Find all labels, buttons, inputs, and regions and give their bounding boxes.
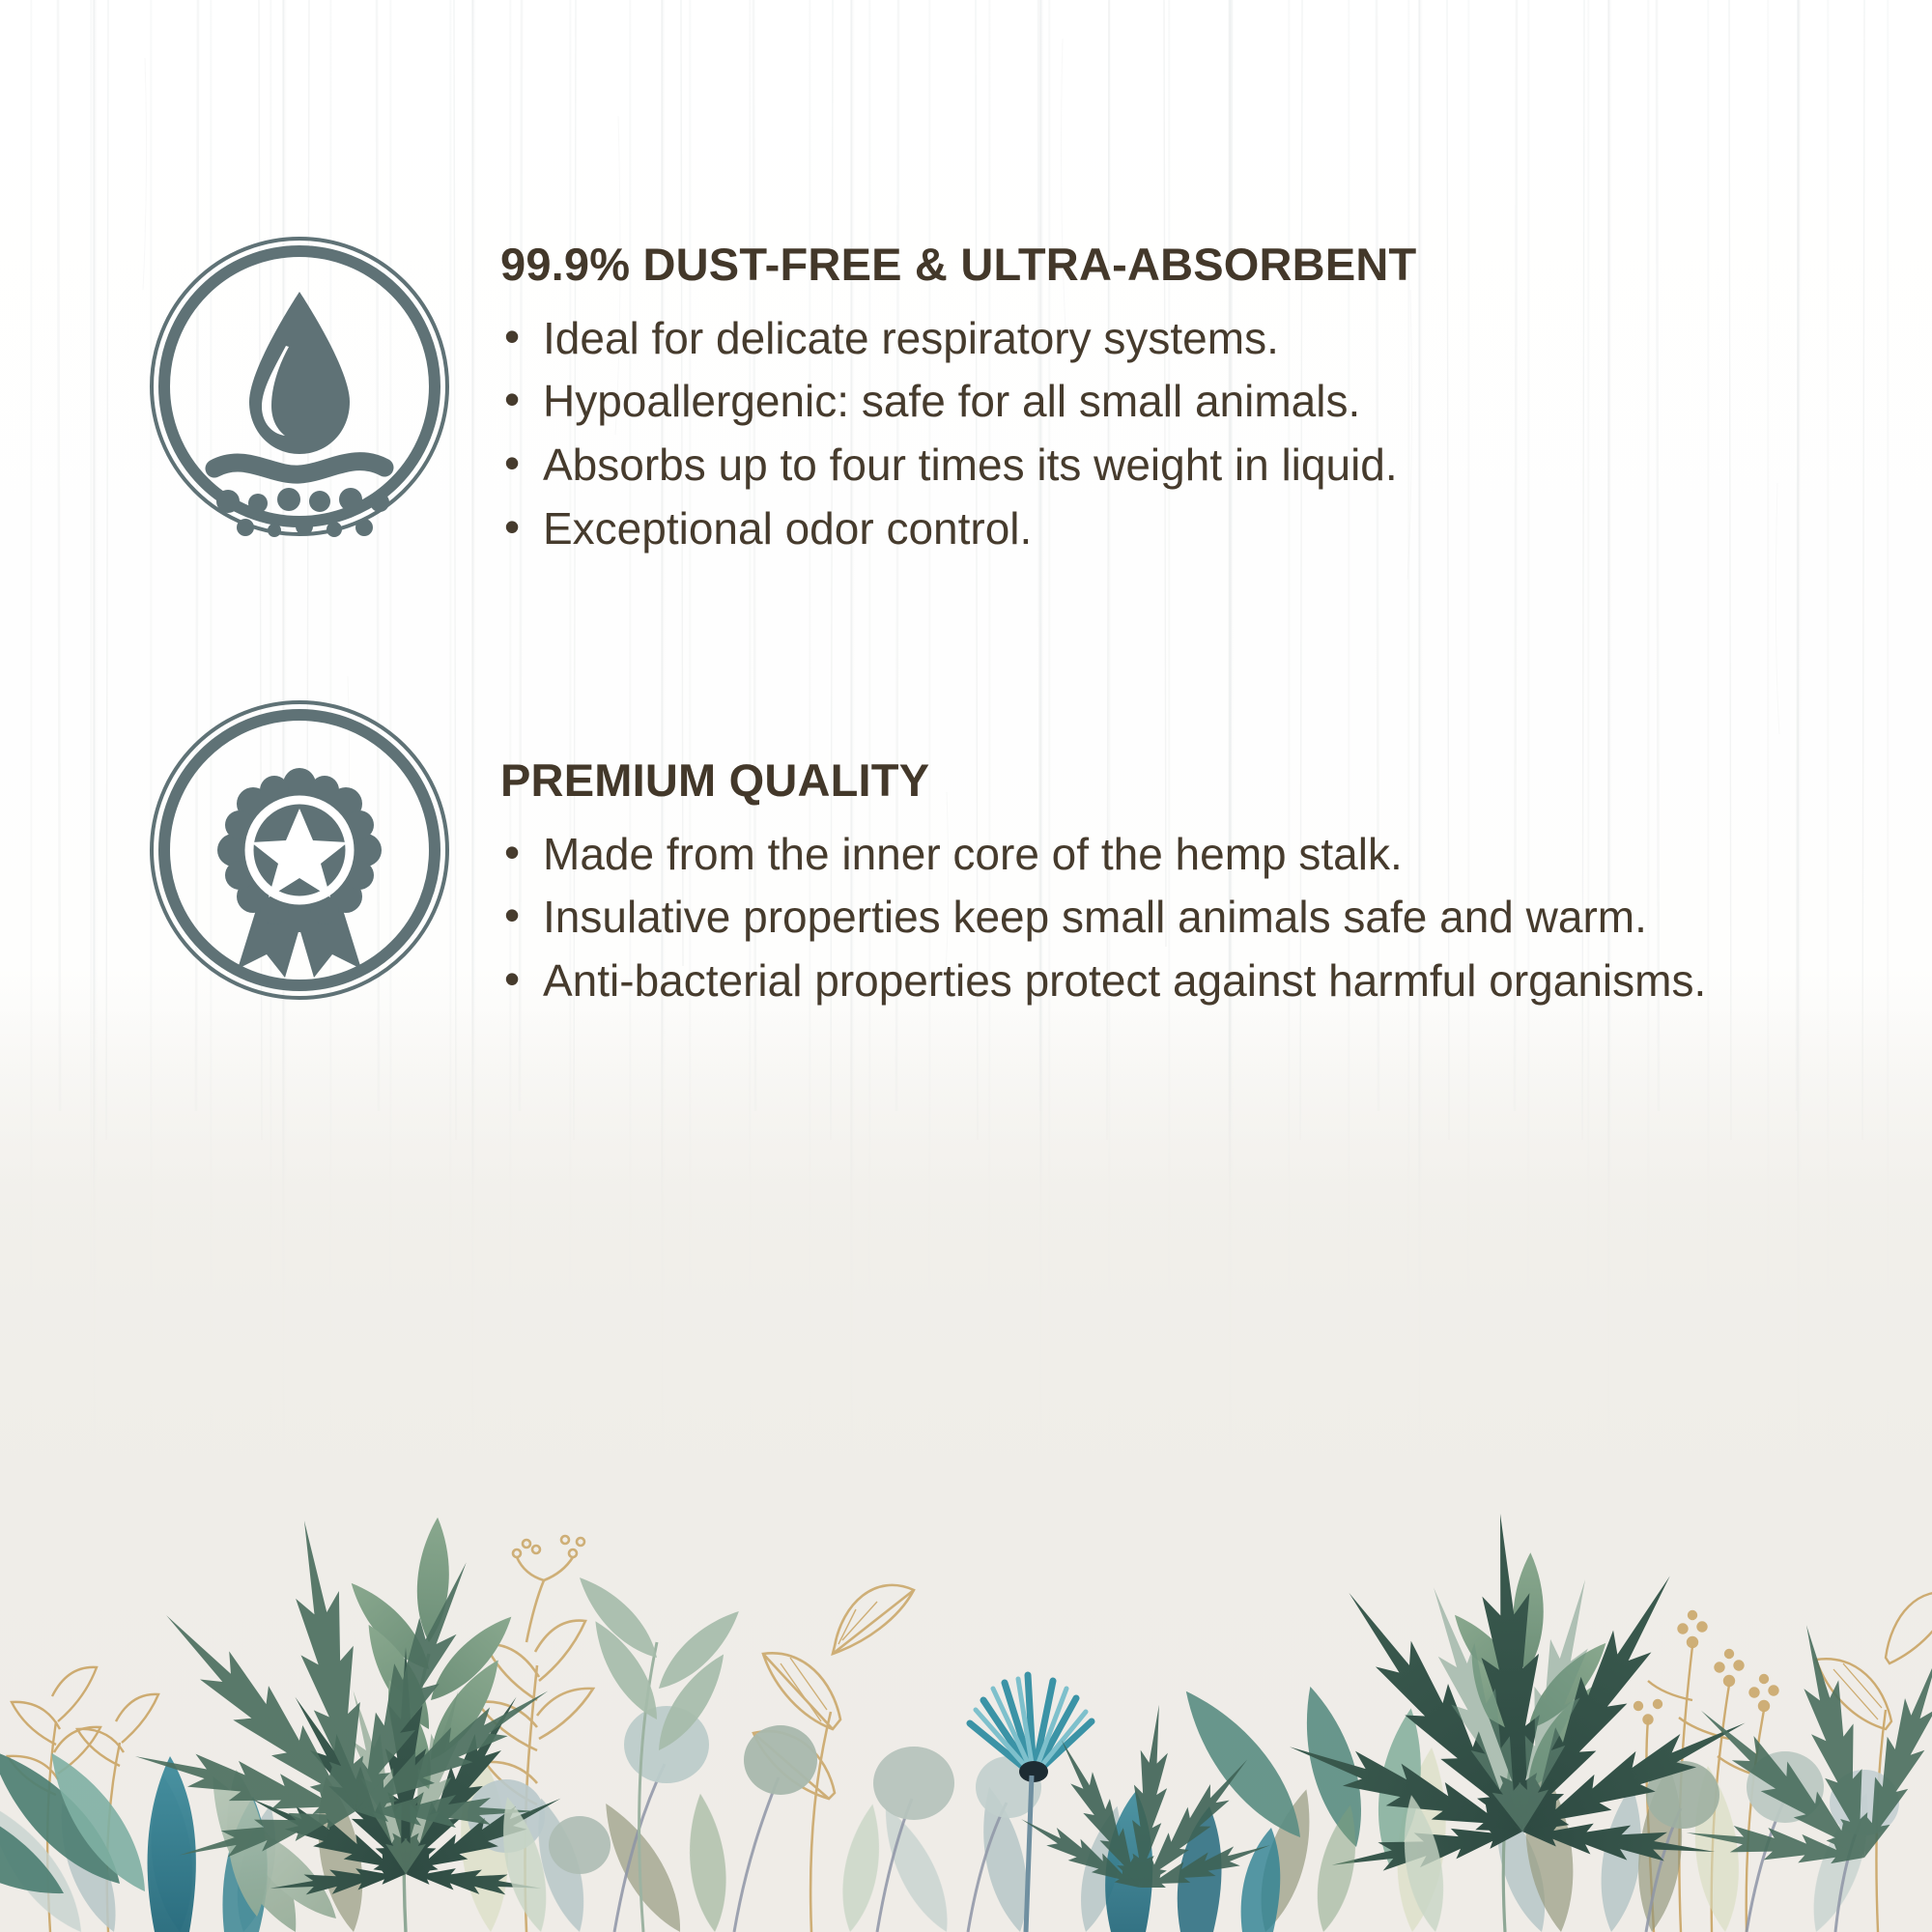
- list-item: Made from the inner core of the hemp sta…: [500, 825, 1706, 885]
- feature-title: 99.9% DUST-FREE & ULTRA-ABSORBENT: [500, 240, 1416, 290]
- water-drop-absorbency-icon: [145, 232, 454, 541]
- list-item: Hypoallergenic: safe for all small anima…: [500, 372, 1416, 432]
- list-item: Exceptional odor control.: [500, 499, 1416, 559]
- feature-dust-free: 99.9% DUST-FREE & ULTRA-ABSORBENT Ideal …: [145, 232, 1416, 562]
- botanical-illustration: [0, 966, 1932, 1932]
- award-ribbon-icon: [145, 696, 454, 1005]
- list-item: Insulative properties keep small animals…: [500, 888, 1706, 948]
- product-feature-panel: 99.9% DUST-FREE & ULTRA-ABSORBENT Ideal …: [0, 0, 1932, 1932]
- feature-dust-free-copy: 99.9% DUST-FREE & ULTRA-ABSORBENT Ideal …: [454, 232, 1416, 562]
- list-item: Ideal for delicate respiratory systems.: [500, 309, 1416, 369]
- feature-bullets: Ideal for delicate respiratory systems. …: [500, 309, 1416, 559]
- feature-title: PREMIUM QUALITY: [500, 755, 1706, 806]
- list-item: Absorbs up to four times its weight in l…: [500, 436, 1416, 496]
